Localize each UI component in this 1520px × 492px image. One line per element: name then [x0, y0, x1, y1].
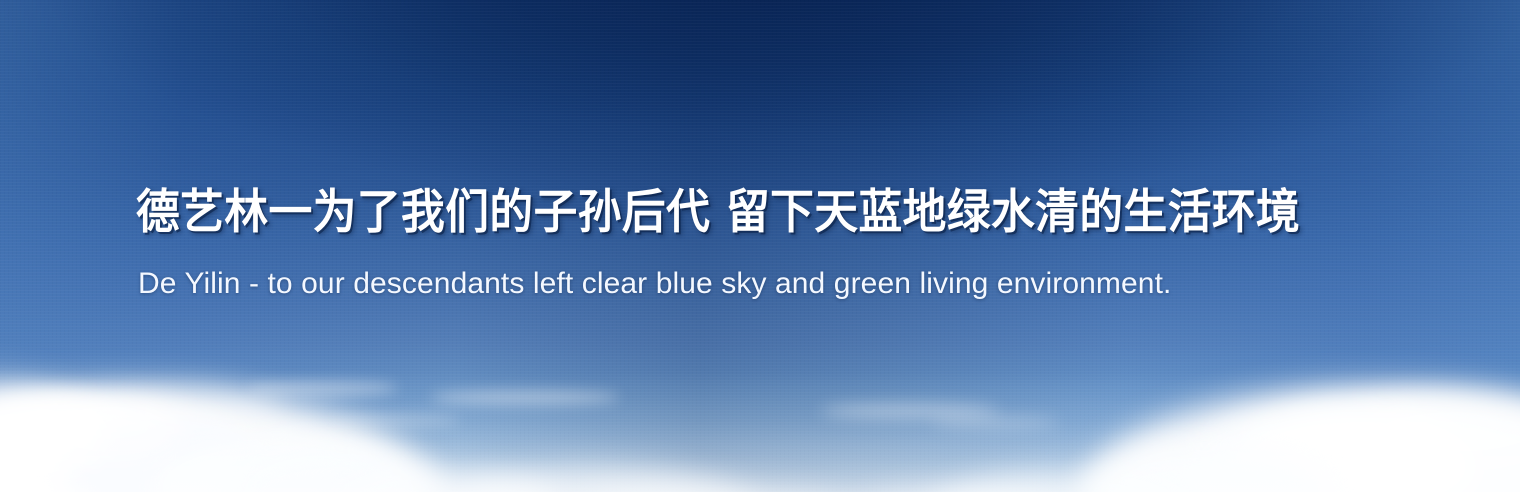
cloud-bottom-haze	[0, 372, 1520, 492]
banner-subline-english: De Yilin - to our descendants left clear…	[138, 266, 1436, 302]
banner-copy: 德艺林一为了我们的子孙后代 留下天蓝地绿水清的生活环境 De Yilin - t…	[136, 186, 1436, 302]
banner-headline-chinese: 德艺林一为了我们的子孙后代 留下天蓝地绿水清的生活环境	[136, 186, 1345, 240]
hero-banner: 德艺林一为了我们的子孙后代 留下天蓝地绿水清的生活环境 De Yilin - t…	[0, 0, 1520, 492]
